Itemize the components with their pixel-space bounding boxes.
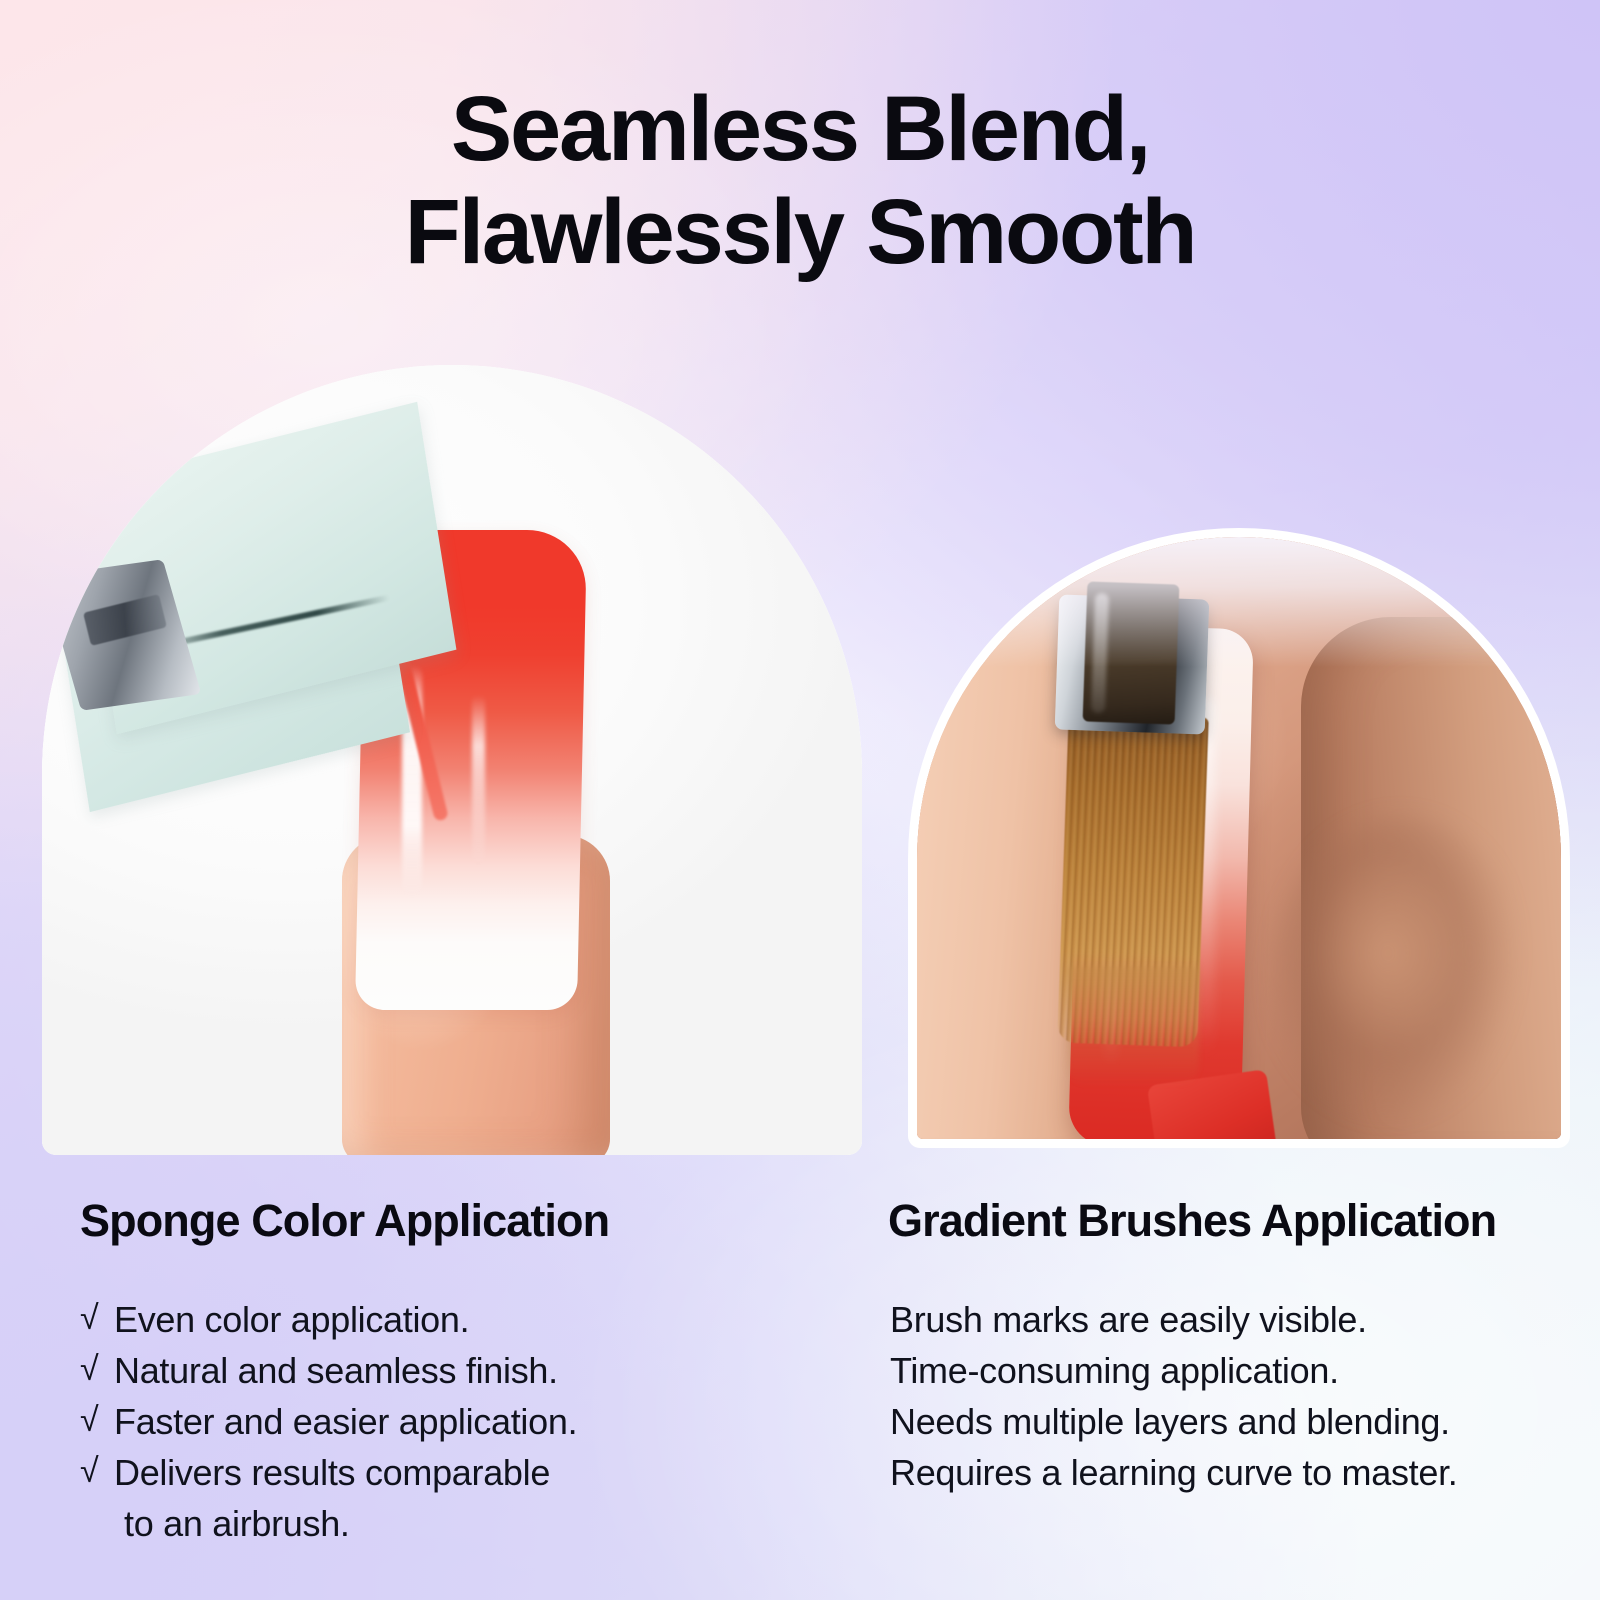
list-item: Needs multiple layers and blending. — [888, 1396, 1588, 1447]
sponge-text-column: Sponge Color Application √ Even color ap… — [80, 1196, 780, 1549]
list-item: Requires a learning curve to master. — [888, 1447, 1588, 1498]
brush-text-column: Gradient Brushes Application Brush marks… — [888, 1196, 1588, 1498]
list-item-continuation: to an airbrush. — [80, 1498, 780, 1549]
list-item: √ Delivers results comparable — [80, 1447, 780, 1498]
list-item-label: Needs multiple layers and blending. — [888, 1396, 1588, 1447]
sponge-application-image — [42, 365, 862, 1155]
check-icon: √ — [80, 1447, 114, 1495]
page-title: Seamless Blend, Flawlessly Smooth — [0, 78, 1600, 284]
sponge-column-title: Sponge Color Application — [80, 1196, 780, 1246]
check-icon: √ — [80, 1396, 114, 1444]
brush-bristle-tips — [1067, 967, 1199, 1087]
check-icon: √ — [80, 1345, 114, 1393]
photo-top-fade — [917, 537, 1561, 667]
list-item: Brush marks are easily visible. — [888, 1294, 1588, 1345]
page-title-line-2: Flawlessly Smooth — [0, 181, 1600, 284]
list-item-label: Delivers results comparable — [114, 1447, 780, 1498]
thumb-blurred — [1271, 817, 1531, 1139]
list-item: √ Faster and easier application. — [80, 1396, 780, 1447]
list-item-label: Requires a learning curve to master. — [888, 1447, 1588, 1498]
sponge-photo — [42, 365, 862, 1155]
list-item-label: Faster and easier application. — [114, 1396, 780, 1447]
nail-gloss-highlight-secondary — [472, 695, 485, 865]
sponge-benefit-list: √ Even color application. √ Natural and … — [80, 1294, 780, 1550]
page-title-line-1: Seamless Blend, — [0, 78, 1600, 181]
list-item: Time-consuming application. — [888, 1345, 1588, 1396]
brush-application-image — [908, 528, 1570, 1148]
list-item: √ Even color application. — [80, 1294, 780, 1345]
list-item-label: Brush marks are easily visible. — [888, 1294, 1588, 1345]
list-item-label: Even color application. — [114, 1294, 780, 1345]
list-item-label: Natural and seamless finish. — [114, 1345, 780, 1396]
check-icon: √ — [80, 1294, 114, 1342]
list-item-label: Time-consuming application. — [888, 1345, 1588, 1396]
brush-drawback-list: Brush marks are easily visible. Time-con… — [888, 1294, 1588, 1498]
brush-photo — [917, 537, 1561, 1139]
brush-photo-frame — [917, 537, 1561, 1139]
poster-stage: Seamless Blend, Flawlessly Smooth — [0, 0, 1600, 1600]
list-item: √ Natural and seamless finish. — [80, 1345, 780, 1396]
brush-column-title: Gradient Brushes Application — [888, 1196, 1588, 1246]
list-item-label: to an airbrush. — [114, 1498, 780, 1549]
